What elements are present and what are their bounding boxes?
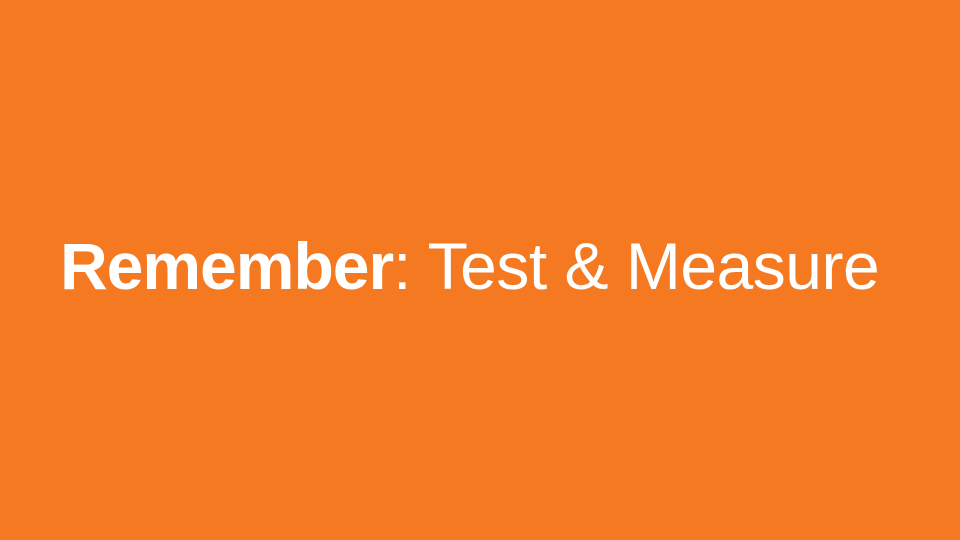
slide-canvas: Remember: Test & Measure — [0, 0, 960, 540]
page-title: Remember: Test & Measure — [0, 231, 879, 302]
page-title-emphasis: Remember — [60, 229, 393, 303]
page-title-remainder: : Test & Measure — [393, 229, 879, 303]
